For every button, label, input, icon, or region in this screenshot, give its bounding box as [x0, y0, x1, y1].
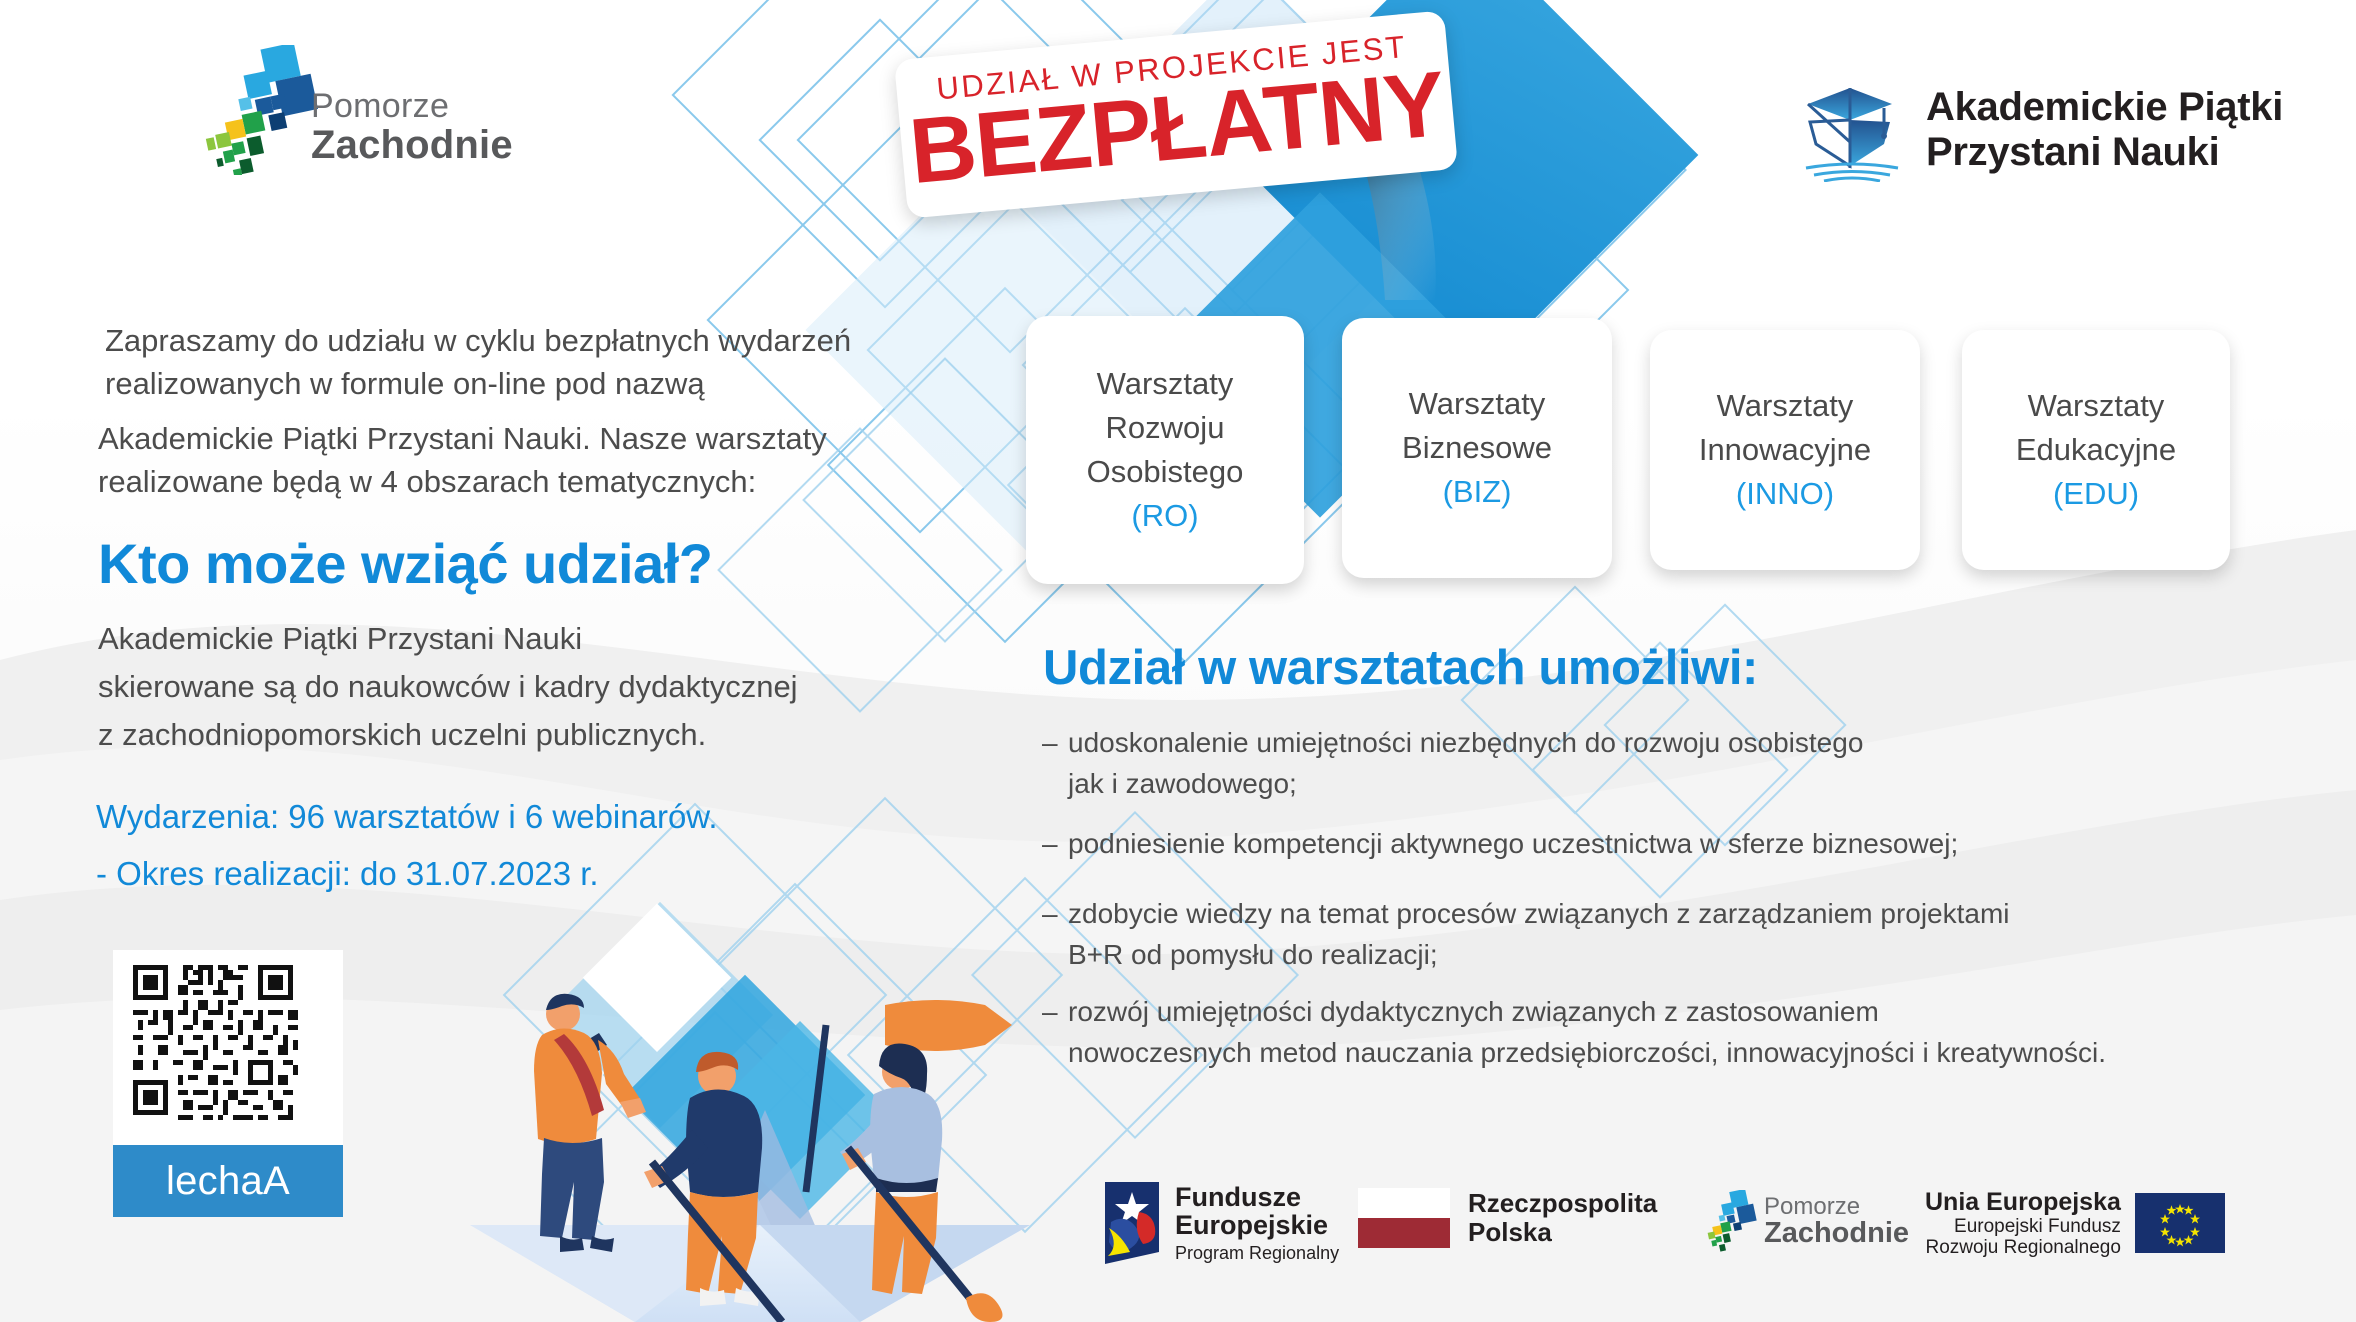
benefit-text: udoskonalenie umiejętności niezbędnych d…	[1068, 723, 1863, 804]
bullet-marker: –	[1042, 824, 1068, 865]
workshop-card-ro[interactable]: Warsztaty Rozwoju Osobistego (RO)	[1026, 316, 1304, 584]
intro-paragraph-1: Zapraszamy do udziału w cyklu bezpłatnyc…	[105, 320, 935, 406]
card-acronym: (BIZ)	[1443, 470, 1512, 514]
eu-flag-icon	[2135, 1193, 2225, 1253]
card-acronym: (EDU)	[2053, 472, 2139, 516]
card-title: Warsztaty Innowacyjne	[1699, 384, 1871, 472]
pz-footer-line2: Zachodnie	[1764, 1219, 1909, 1248]
benefits-heading: Udział w warsztatach umożliwi:	[1043, 640, 1758, 696]
card-acronym: (RO)	[1131, 494, 1198, 538]
pomorze-zachodnie-logo: Pomorze Zachodnie	[195, 45, 513, 175]
bullet-marker: –	[1042, 992, 1068, 1073]
pz-footer-line1: Pomorze	[1764, 1195, 1909, 1219]
bullet-marker: –	[1042, 723, 1068, 804]
benefit-item: – podniesienie kompetencji aktywnego ucz…	[1042, 824, 2302, 865]
pz-logo-line1: Pomorze	[311, 89, 513, 123]
fundusze-line1: Fundusze	[1175, 1183, 1339, 1211]
apn-logo-line2: Przystani Nauki	[1926, 130, 2283, 175]
benefit-item: – rozwój umiejętności dydaktycznych zwią…	[1042, 992, 2342, 1073]
bullet-marker: –	[1042, 894, 1068, 975]
pomorze-zachodnie-footer-logo: Pomorze Zachodnie	[1698, 1190, 1909, 1252]
audience-paragraph: Akademickie Piątki Przystani Nauki skier…	[98, 615, 938, 759]
polish-flag-icon	[1358, 1188, 1450, 1248]
people-on-paper-boat-illustration	[430, 880, 1070, 1322]
qr-code-label: lechaA	[113, 1145, 343, 1217]
events-count-line: Wydarzenia: 96 warsztatów i 6 webinarów.	[96, 798, 718, 836]
akademickie-piatki-logo: Akademickie Piątki Przystani Nauki	[1800, 78, 2283, 182]
workshop-card-biz[interactable]: Warsztaty Biznesowe (BIZ)	[1342, 318, 1612, 578]
apn-logo-line1: Akademickie Piątki	[1926, 85, 2283, 130]
pomorze-zachodnie-mark-small	[1698, 1190, 1760, 1252]
benefit-text: rozwój umiejętności dydaktycznych związa…	[1068, 992, 2106, 1073]
unia-europejska-logo: Unia Europejska Europejski Fundusz Rozwo…	[1925, 1188, 2225, 1259]
rzeczpospolita-polska-logo: Rzeczpospolita Polska	[1358, 1188, 1657, 1248]
unia-line1: Unia Europejska	[1925, 1188, 2121, 1216]
rzeczpospolita-line2: Polska	[1468, 1218, 1657, 1247]
card-acronym: (INNO)	[1736, 472, 1834, 516]
benefit-item: – zdobycie wiedzy na temat procesów zwią…	[1042, 894, 2302, 975]
poster-canvas: Pomorze Zachodnie	[0, 0, 2356, 1322]
benefit-text: podniesienie kompetencji aktywnego uczes…	[1068, 824, 1958, 865]
rzeczpospolita-line1: Rzeczpospolita	[1468, 1189, 1657, 1218]
qr-code-image	[113, 950, 343, 1145]
workshop-card-edu[interactable]: Warsztaty Edukacyjne (EDU)	[1962, 330, 2230, 570]
fundusze-line2: Europejskie	[1175, 1211, 1339, 1239]
fundusze-europejskie-icon	[1105, 1182, 1159, 1264]
card-title: Warsztaty Edukacyjne	[2016, 384, 2176, 472]
pomorze-zachodnie-mark	[195, 45, 325, 175]
intro-paragraph-2: Akademickie Piątki Przystani Nauki. Nasz…	[98, 418, 928, 504]
card-title: Warsztaty Biznesowe	[1402, 382, 1552, 470]
who-can-participate-heading: Kto może wziąć udział?	[98, 531, 712, 596]
ship-graduation-icon	[1800, 78, 1904, 182]
benefit-text: zdobycie wiedzy na temat procesów związa…	[1068, 894, 2010, 975]
unia-line3: Rozwoju Regionalnego	[1925, 1237, 2120, 1258]
unia-line2: Europejski Fundusz	[1954, 1216, 2121, 1237]
card-title: Warsztaty Rozwoju Osobistego	[1087, 362, 1244, 494]
qr-code[interactable]	[113, 950, 343, 1145]
fundusze-line3: Program Regionalny	[1175, 1244, 1339, 1263]
workshop-card-inno[interactable]: Warsztaty Innowacyjne (INNO)	[1650, 330, 1920, 570]
fundusze-europejskie-logo: Fundusze Europejskie Program Regionalny	[1105, 1182, 1339, 1264]
pz-logo-line2: Zachodnie	[311, 125, 513, 165]
benefit-item: – udoskonalenie umiejętności niezbędnych…	[1042, 723, 2302, 804]
